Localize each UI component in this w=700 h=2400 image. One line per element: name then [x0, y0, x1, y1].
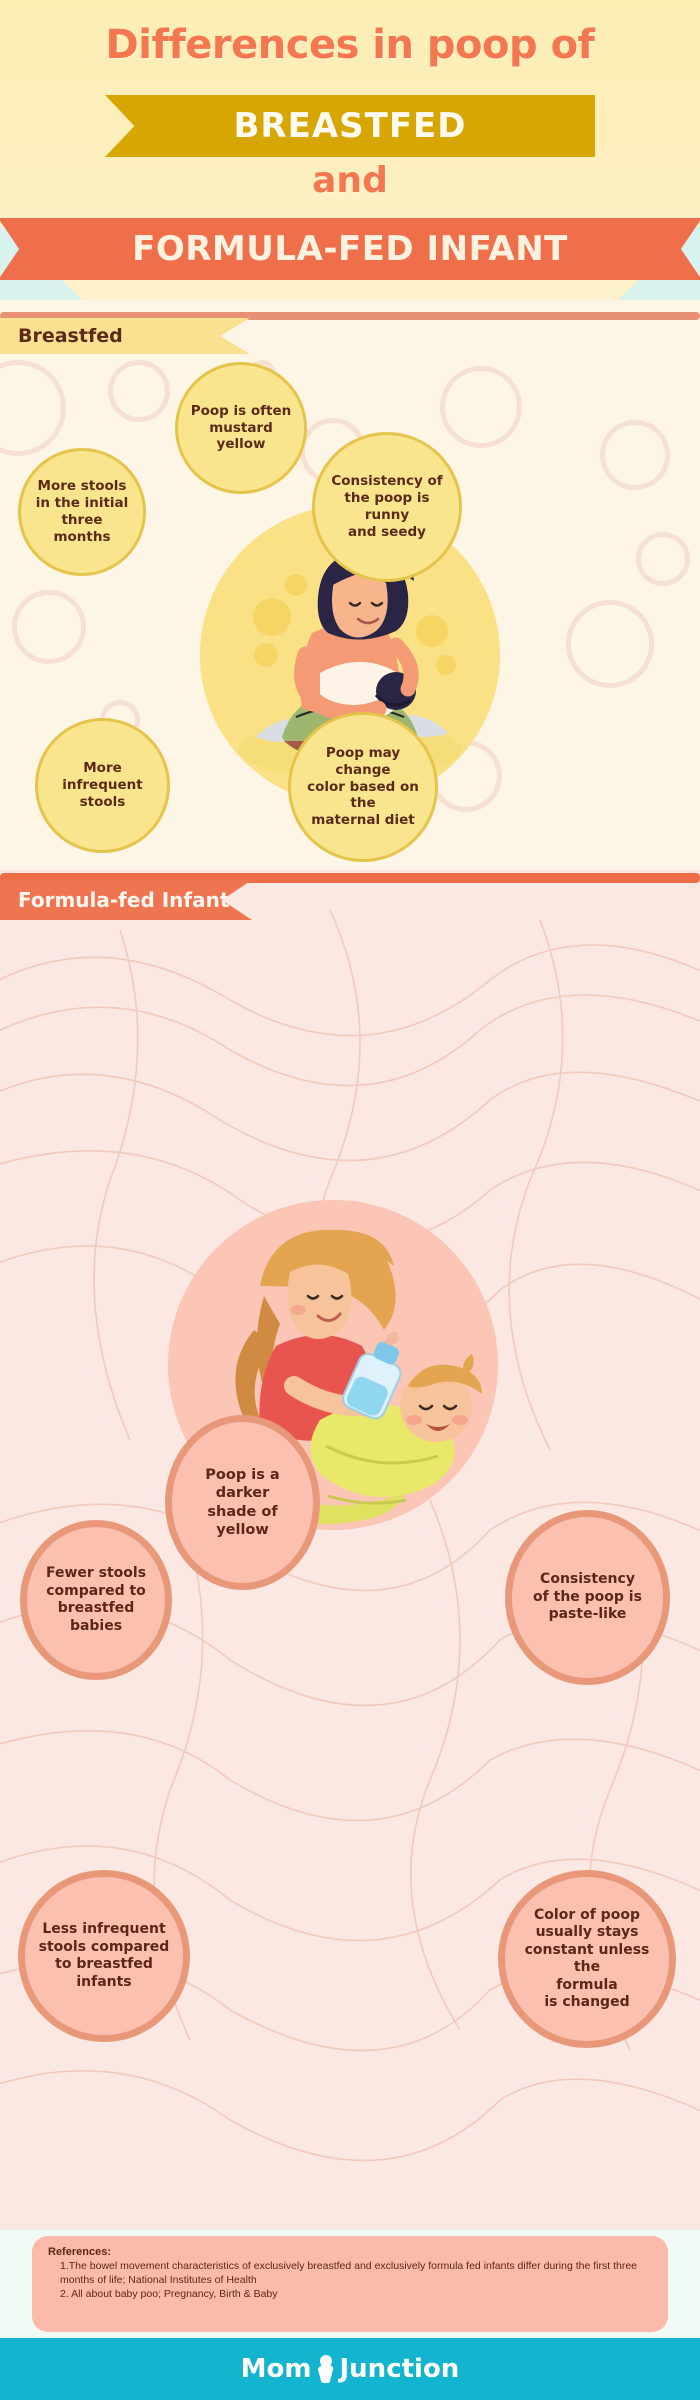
brand-name-right: Junction — [340, 2354, 460, 2384]
bf-point-more-stools[interactable]: More stools in the initial three months — [18, 448, 146, 576]
bubble-decor-icon — [566, 600, 654, 688]
ff-point-darker-yellow[interactable]: Poop is a darker shade of yellow — [165, 1415, 320, 1590]
references-title: References: — [48, 2246, 652, 2258]
bf-point-more-stools-label: More stools in the initial three months — [26, 478, 139, 546]
formula-fed-section-tag: Formula-fed Infant — [0, 880, 252, 920]
breastfed-section: Breastfed — [0, 300, 700, 870]
bf-point-maternal-diet[interactable]: Poop may change color based on the mater… — [288, 712, 438, 862]
header-banner: Differences in poop of BREASTFED and FOR… — [0, 0, 700, 300]
infographic-page: Differences in poop of BREASTFED and FOR… — [0, 0, 700, 2400]
ff-point-fewer-stools-label: Fewer stools compared to breastfed babie… — [27, 1565, 165, 1635]
reference-item: 2. All about baby poo; Pregnancy, Birth … — [60, 2287, 652, 2301]
bf-point-infrequent-stools-label: More infrequent stools — [38, 760, 167, 811]
header-ribbon-formula-fed: FORMULA-FED INFANT — [0, 218, 700, 280]
ff-point-less-infrequent[interactable]: Less infrequent stools compared to breas… — [18, 1870, 190, 2042]
bf-point-runny-seedy[interactable]: Consistency of the poop is runny and see… — [312, 432, 462, 582]
bf-point-mustard-yellow-label: Poop is often mustard yellow — [178, 403, 304, 454]
breastfed-section-label: Breastfed — [0, 325, 123, 347]
references-area: References: 1.The bowel movement charact… — [0, 2230, 700, 2338]
bubble-decor-icon — [0, 360, 66, 456]
ff-point-color-constant[interactable]: Color of poop usually stays constant unl… — [498, 1870, 676, 2048]
reference-item: 1.The bowel movement characteristics of … — [60, 2259, 652, 2287]
bubble-decor-icon — [12, 590, 86, 664]
ff-point-darker-yellow-label: Poop is a darker shade of yellow — [172, 1466, 313, 1539]
bf-point-mustard-yellow[interactable]: Poop is often mustard yellow — [175, 362, 307, 494]
brand-logo: Mom Junction — [241, 2354, 460, 2384]
header-title-line1: Differences in poop of — [0, 22, 700, 68]
references-card: References: 1.The bowel movement charact… — [32, 2236, 668, 2332]
bf-point-maternal-diet-label: Poop may change color based on the mater… — [291, 745, 435, 829]
brand-name-left: Mom — [241, 2354, 312, 2384]
ff-point-color-constant-label: Color of poop usually stays constant unl… — [505, 1907, 669, 2012]
references-list: 1.The bowel movement characteristics of … — [48, 2259, 652, 2302]
formula-fed-section: Formula-fed Infant — [0, 870, 700, 2230]
formula-fed-section-label: Formula-fed Infant — [0, 888, 229, 912]
bubble-decor-icon — [440, 366, 522, 448]
header-ribbon-breastfed: BREASTFED — [105, 95, 595, 157]
header-connector-and: and — [0, 160, 700, 201]
ff-point-paste-like-label: Consistency of the poop is paste-like — [523, 1571, 652, 1624]
brand-footer: Mom Junction — [0, 2338, 700, 2400]
header-ribbon-breastfed-label: BREASTFED — [234, 106, 467, 146]
bf-point-runny-seedy-label: Consistency of the poop is runny and see… — [315, 473, 459, 541]
ff-point-fewer-stools[interactable]: Fewer stools compared to breastfed babie… — [20, 1520, 172, 1680]
ff-point-paste-like[interactable]: Consistency of the poop is paste-like — [505, 1510, 670, 1685]
header-ribbon-formula-fed-label: FORMULA-FED INFANT — [132, 229, 568, 269]
mom-junction-baby-icon — [316, 2355, 336, 2383]
bubble-decor-icon — [108, 360, 170, 422]
bf-point-infrequent-stools[interactable]: More infrequent stools — [35, 718, 170, 853]
bubble-decor-icon — [636, 532, 690, 586]
ff-point-less-infrequent-label: Less infrequent stools compared to breas… — [25, 1921, 183, 1991]
breastfed-section-tag: Breastfed — [0, 318, 250, 354]
bubble-decor-icon — [600, 420, 670, 490]
